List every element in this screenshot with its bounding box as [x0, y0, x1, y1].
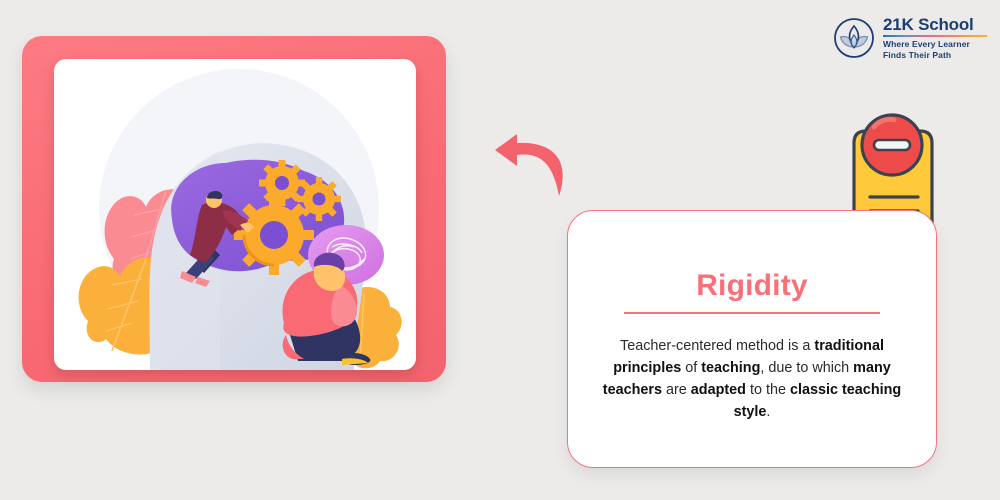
lotus-circle-icon	[833, 17, 875, 59]
brand-logo: 21K School Where Every Learner Finds The…	[833, 14, 993, 62]
brand-text: 21K School Where Every Learner Finds The…	[883, 16, 987, 60]
info-card: Rigidity Teacher-centered method is a tr…	[567, 210, 937, 468]
brand-name: 21K School	[883, 16, 987, 34]
card-title: Rigidity	[568, 269, 936, 303]
head-with-gears-and-frustrated-person-illustration	[54, 59, 416, 370]
card-title-divider	[624, 312, 880, 314]
illustration-frame	[22, 36, 446, 382]
curved-left-arrow	[487, 108, 587, 203]
brand-tagline-line1: Where Every Learner	[883, 39, 987, 49]
illustration-panel	[54, 59, 416, 370]
brand-gradient-rule	[883, 35, 987, 38]
brand-tagline-line2: Finds Their Path	[883, 50, 987, 60]
card-body-text: Teacher-centered method is a traditional…	[590, 336, 914, 424]
